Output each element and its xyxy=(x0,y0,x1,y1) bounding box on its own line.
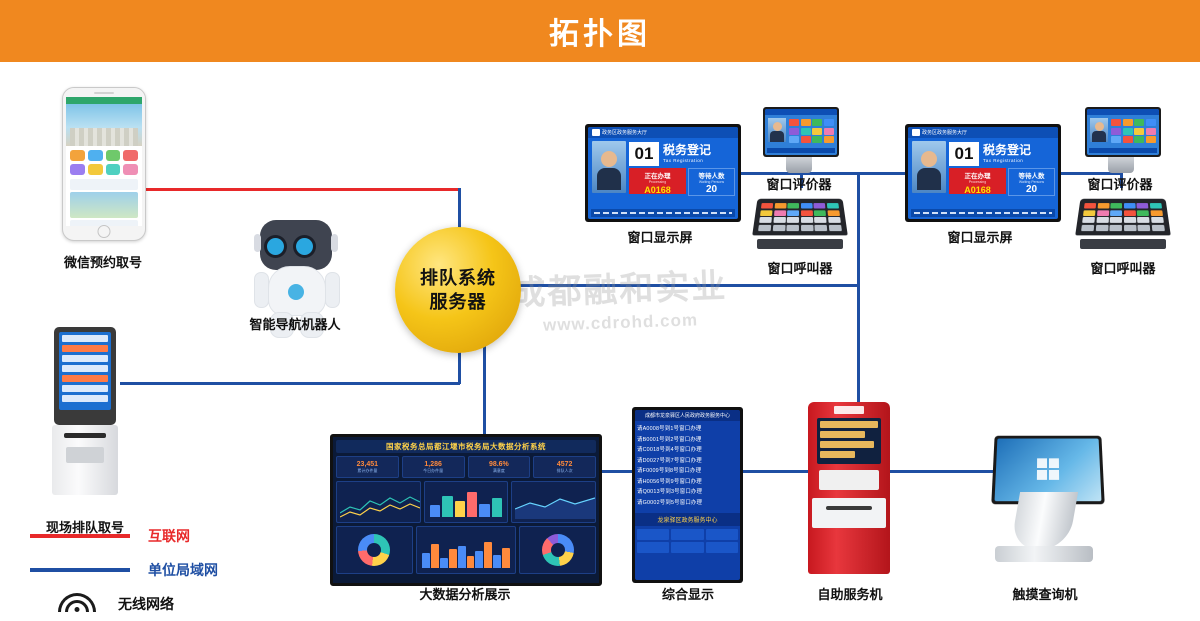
wdisp-processing-left: 正在办理 xyxy=(629,170,686,180)
queue-panel-tiles xyxy=(635,526,740,556)
legend-label-lan: 单位局域网 xyxy=(148,560,218,580)
kpi-value: 1,286 xyxy=(424,461,442,468)
server-label-line2: 服务器 xyxy=(430,290,487,314)
legend-label-internet: 互联网 xyxy=(148,526,190,546)
wdisp-ticket-right: A0168 xyxy=(949,185,1006,195)
node-caller-right[interactable] xyxy=(1078,197,1168,249)
caption-evaluator-right: 窗口评价器 xyxy=(1060,174,1180,193)
queue-tile xyxy=(671,542,703,553)
dashboard-bar-panel xyxy=(424,481,509,523)
caption-caller-left: 窗口呼叫器 xyxy=(740,258,860,277)
queue-row: 请H0056号到9号窗口办理 xyxy=(637,477,738,485)
caller-keypad-icon xyxy=(1078,197,1168,249)
queue-panel-rows: 请A0008号到1号窗口办理 请B0001号到2号窗口办理 请C0018号到4号… xyxy=(635,421,740,511)
queue-row: 请F0009号到8号窗口办理 xyxy=(637,466,738,474)
dashboard-grouped-bars-panel xyxy=(416,526,516,574)
wifi-icon xyxy=(54,593,100,615)
caption-window-display-right: 窗口显示屏 xyxy=(910,227,1050,246)
wdisp-title-en-right: Tax Registration xyxy=(983,158,1031,163)
dashboard-donut-panel xyxy=(336,526,413,574)
node-window-display-right[interactable]: 政务区政务服务大厅 01 税务登记 Tax Registration 正在办理 … xyxy=(905,124,1061,222)
kpi-item: 1,286今日办件量 xyxy=(402,456,465,478)
kpi-item: 98.6%满意度 xyxy=(468,456,531,478)
kpi-value: 98.6% xyxy=(489,461,509,468)
queue-tile xyxy=(706,529,738,540)
kpi-label: 今日办件量 xyxy=(423,468,443,474)
caption-window-display-left: 窗口显示屏 xyxy=(590,227,730,246)
wdisp-waiting-count-left: 20 xyxy=(689,184,734,195)
wdisp-waiting-count-right: 20 xyxy=(1009,184,1054,195)
caption-guide-robot: 智能导航机器人 xyxy=(215,314,375,333)
legend-swatch-internet xyxy=(30,534,130,538)
dashboard-title: 国家税务总局都江堰市税务局大数据分析系统 xyxy=(336,440,596,453)
link-server-to-right xyxy=(520,284,860,287)
node-self-service-machine[interactable] xyxy=(808,402,890,574)
wdisp-title-en-left: Tax Registration xyxy=(663,158,711,163)
caller-keypad-icon xyxy=(755,197,845,249)
wdisp-header-left: 政务区政务服务大厅 xyxy=(602,129,647,136)
page-title: 拓扑图 xyxy=(549,9,651,53)
legend-row-lan: 单位局域网 xyxy=(30,553,260,587)
smartphone-icon xyxy=(62,87,146,241)
node-evaluator-right[interactable] xyxy=(1085,107,1157,169)
touch-query-machine-icon xyxy=(985,434,1103,574)
kpi-label: 排队人次 xyxy=(557,468,573,474)
legend: 互联网 单位局域网 无线网络 xyxy=(30,519,260,621)
node-queue-server[interactable]: 排队系统 服务器 xyxy=(395,227,521,353)
node-summary-display[interactable]: 成都市龙泉驿区人民政府政务服务中心 请A0008号到1号窗口办理 请B0001号… xyxy=(632,407,743,583)
wdisp-ticket-left: A0168 xyxy=(629,185,686,195)
legend-row-internet: 互联网 xyxy=(30,519,260,553)
queue-row: 请C0018号到4号窗口办理 xyxy=(637,445,738,453)
wdisp-title-left: 税务登记 xyxy=(663,143,711,157)
wdisp-processing-right: 正在办理 xyxy=(949,170,1006,180)
self-service-machine-icon xyxy=(808,402,890,574)
window-display-screen-icon: 政务区政务服务大厅 01 税务登记 Tax Registration 正在办理 … xyxy=(905,124,1061,222)
ticket-kiosk-icon xyxy=(50,327,120,495)
kpi-label: 累计办件量 xyxy=(357,468,377,474)
kpi-value: 4572 xyxy=(557,461,573,468)
caption-wechat-booking: 微信预约取号 xyxy=(33,252,173,271)
wdisp-waiting-left: 等待人数 xyxy=(689,170,734,180)
kpi-value: 23,451 xyxy=(357,461,378,468)
caption-caller-right: 窗口呼叫器 xyxy=(1063,258,1183,277)
node-evaluator-left[interactable] xyxy=(763,107,835,169)
caption-summary-display: 综合显示 xyxy=(618,584,758,603)
wdisp-processing-en-right: Processing xyxy=(949,180,1006,184)
wdisp-waiting-right: 等待人数 xyxy=(1009,170,1054,180)
node-wechat-booking[interactable] xyxy=(62,87,146,241)
queue-row: 请A0008号到1号窗口办理 xyxy=(637,424,738,432)
queue-row: 请Q0013号到3号窗口办理 xyxy=(637,487,738,495)
evaluator-icon xyxy=(1085,107,1157,169)
dashboard-line-panel xyxy=(336,481,421,523)
node-touch-query-machine[interactable] xyxy=(985,434,1103,574)
kpi-label: 满意度 xyxy=(493,468,505,474)
kpi-item: 23,451累计办件量 xyxy=(336,456,399,478)
queue-tile xyxy=(637,529,669,540)
dashboard-area-panel xyxy=(511,481,596,523)
kpi-item: 4572排队人次 xyxy=(533,456,596,478)
node-window-display-left[interactable]: 政务区政务服务大厅 01 税务登记 Tax Registration 正在办理 … xyxy=(585,124,741,222)
server-ball-icon: 排队系统 服务器 xyxy=(395,227,521,353)
legend-row-wireless: 无线网络 xyxy=(30,587,260,621)
queue-panel-header: 成都市龙泉驿区人民政府政务服务中心 xyxy=(635,410,740,421)
queue-tile xyxy=(671,529,703,540)
queue-row: 请D0027号到7号窗口办理 xyxy=(637,456,738,464)
bigdata-dashboard-icon: 国家税务总局都江堰市税务局大数据分析系统 23,451累计办件量 1,286今日… xyxy=(330,434,602,586)
dashboard-kpis: 23,451累计办件量 1,286今日办件量 98.6%满意度 4572排队人次 xyxy=(336,456,596,478)
page-header: 拓扑图 xyxy=(0,0,1200,62)
queue-row: 请G0002号到5号窗口办理 xyxy=(637,498,738,506)
queue-list-screen-icon: 成都市龙泉驿区人民政府政务服务中心 请A0008号到1号窗口办理 请B0001号… xyxy=(632,407,743,583)
wdisp-processing-en-left: Processing xyxy=(629,180,686,184)
legend-swatch-lan xyxy=(30,568,130,572)
wdisp-number-right: 01 xyxy=(949,142,979,166)
topology-canvas: 成都融和实业 www.cdrohd.com 微信预约取号 xyxy=(0,62,1200,621)
node-caller-left[interactable] xyxy=(755,197,845,249)
window-display-screen-icon: 政务区政务服务大厅 01 税务登记 Tax Registration 正在办理 … xyxy=(585,124,741,222)
caption-bigdata: 大数据分析展示 xyxy=(390,584,540,603)
evaluator-icon xyxy=(763,107,835,169)
server-label-line1: 排队系统 xyxy=(420,266,496,290)
wdisp-header-right: 政务区政务服务大厅 xyxy=(922,129,967,136)
queue-panel-footer-title: 龙泉驿区政务服务中心 xyxy=(635,513,740,526)
link-wechat-to-server xyxy=(128,188,460,191)
dashboard-pie-panel xyxy=(519,526,596,574)
node-onsite-ticket-kiosk[interactable] xyxy=(50,327,120,495)
queue-tile xyxy=(637,542,669,553)
wdisp-title-right: 税务登记 xyxy=(983,143,1031,157)
legend-label-wireless: 无线网络 xyxy=(118,594,174,614)
node-bigdata-dashboard[interactable]: 国家税务总局都江堰市税务局大数据分析系统 23,451累计办件量 1,286今日… xyxy=(330,434,602,586)
wireless-signal-icon xyxy=(346,262,372,296)
caption-touch-query: 触摸查询机 xyxy=(975,584,1115,603)
link-onsite-to-server xyxy=(120,382,460,385)
queue-row: 请B0001号到2号窗口办理 xyxy=(637,435,738,443)
wdisp-number-left: 01 xyxy=(629,142,659,166)
queue-tile xyxy=(706,542,738,553)
caption-evaluator-left: 窗口评价器 xyxy=(739,174,859,193)
caption-self-service: 自助服务机 xyxy=(780,584,920,603)
